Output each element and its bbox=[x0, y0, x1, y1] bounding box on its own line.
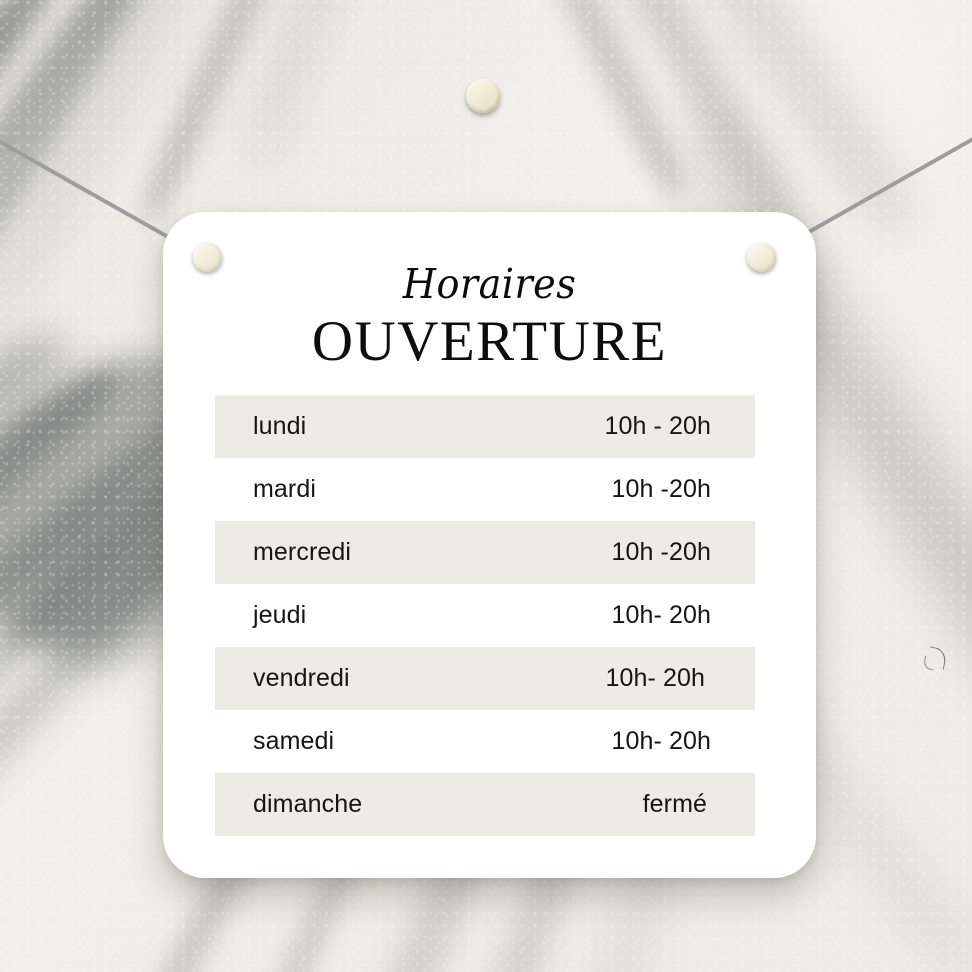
day-label: lundi bbox=[215, 412, 306, 441]
table-row: mercredi10h -20h bbox=[215, 521, 755, 584]
day-label: mercredi bbox=[215, 538, 351, 567]
opening-hours-sign: Horaires OUVERTURE lundi10h - 20hmardi10… bbox=[163, 212, 816, 878]
time-value: 10h- 20h bbox=[612, 727, 712, 756]
day-label: vendredi bbox=[215, 664, 350, 693]
table-row: samedi10h- 20h bbox=[215, 710, 755, 773]
time-value: fermé bbox=[643, 790, 707, 819]
table-row: lundi10h - 20h bbox=[215, 395, 755, 458]
page-title: OUVERTURE bbox=[163, 311, 816, 373]
time-value: 10h- 20h bbox=[612, 601, 712, 630]
sign-heading: Horaires OUVERTURE bbox=[163, 212, 816, 373]
day-label: jeudi bbox=[215, 601, 306, 630]
time-value: 10h -20h bbox=[612, 538, 712, 567]
day-label: mardi bbox=[215, 475, 316, 504]
time-value: 10h -20h bbox=[612, 475, 712, 504]
hanging-nail-icon bbox=[466, 79, 500, 113]
time-value: 10h - 20h bbox=[604, 412, 711, 441]
time-value: 10h- 20h bbox=[606, 664, 706, 693]
table-row: vendredi10h- 20h bbox=[215, 647, 755, 710]
table-row: dimanchefermé bbox=[215, 773, 755, 836]
wall-background: Horaires OUVERTURE lundi10h - 20hmardi10… bbox=[0, 0, 972, 972]
script-title: Horaires bbox=[186, 264, 793, 305]
day-label: dimanche bbox=[215, 790, 362, 819]
opening-hours-table: lundi10h - 20hmardi10h -20hmercredi10h -… bbox=[215, 395, 755, 836]
table-row: mardi10h -20h bbox=[215, 458, 755, 521]
day-label: samedi bbox=[215, 727, 334, 756]
table-row: jeudi10h- 20h bbox=[215, 584, 755, 647]
